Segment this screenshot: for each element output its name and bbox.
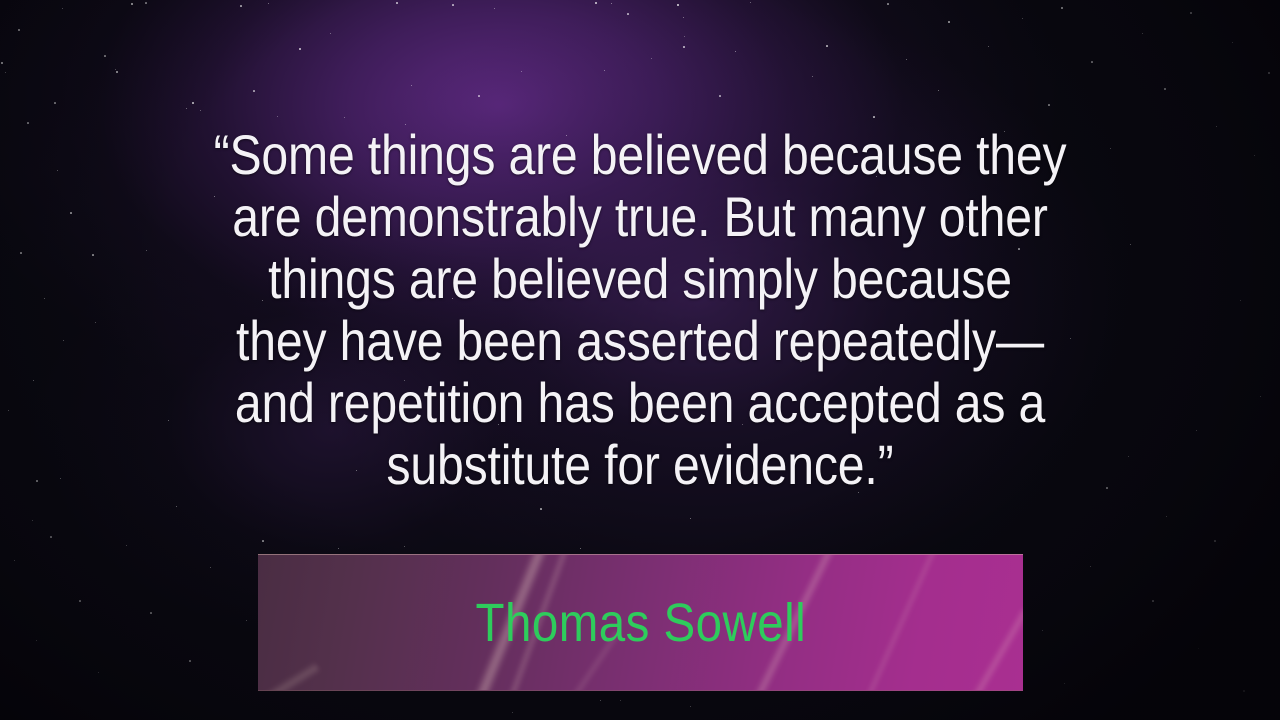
quote-line: they have been asserted repeatedly— bbox=[114, 310, 1167, 372]
quote-line: things are believed simply because bbox=[114, 248, 1167, 310]
quote-line: are demonstrably true. But many other bbox=[114, 186, 1167, 248]
light-streak-icon bbox=[827, 554, 955, 691]
light-streak-icon bbox=[906, 608, 1023, 691]
quote-line: and repetition has been accepted as a bbox=[114, 372, 1167, 434]
quote-text-block: “Some things are believed because they a… bbox=[0, 124, 1280, 496]
light-streak-icon bbox=[258, 662, 320, 691]
quote-line: “Some things are believed because they bbox=[114, 124, 1167, 186]
author-name: Thomas Sowell bbox=[475, 595, 806, 651]
quote-card: “Some things are believed because they a… bbox=[0, 0, 1280, 720]
quote-line: substitute for evidence.” bbox=[114, 434, 1167, 496]
author-banner: Thomas Sowell bbox=[258, 554, 1023, 691]
